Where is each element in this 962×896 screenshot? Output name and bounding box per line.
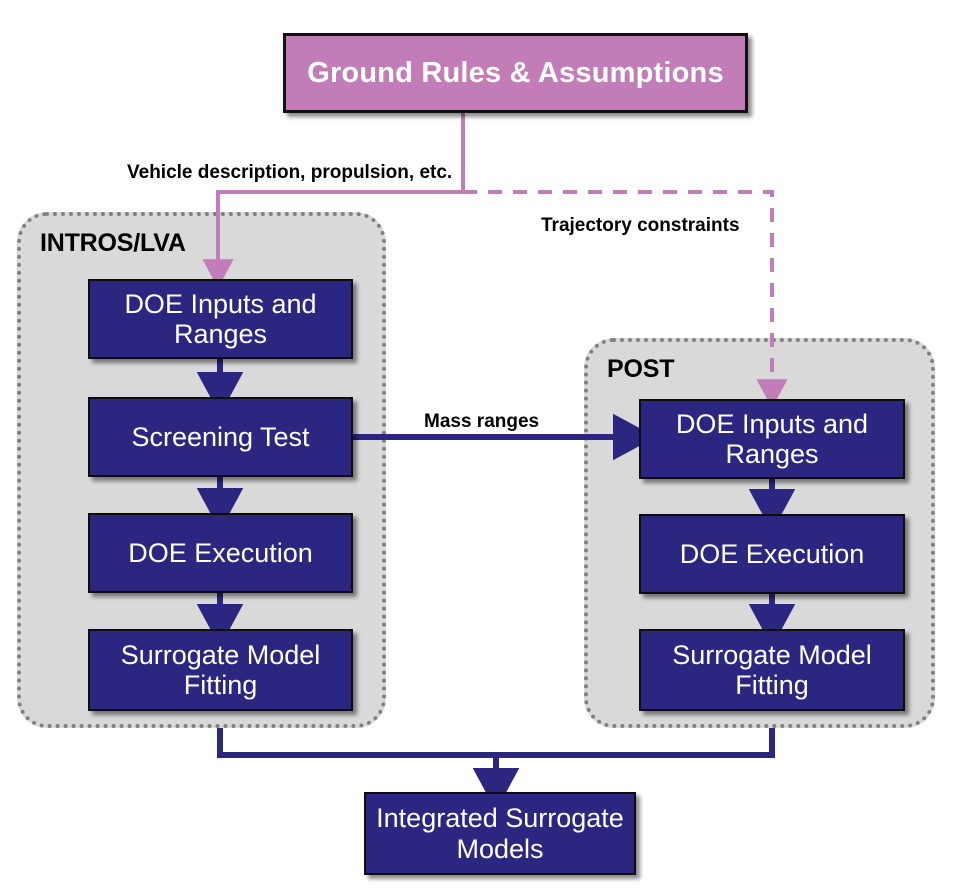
edge-label-trajectory-constraints: Trajectory constraints <box>541 215 740 237</box>
node-post-surrogate-model-fitting[interactable]: Surrogate Model Fitting <box>639 629 905 711</box>
node-ground-rules-assumptions[interactable]: Ground Rules & Assumptions <box>283 33 748 113</box>
node-post-doe-inputs-and-ranges[interactable]: DOE Inputs and Ranges <box>639 399 905 479</box>
node-intros-surrogate-model-fitting[interactable]: Surrogate Model Fitting <box>88 629 353 711</box>
edge-label-vehicle-description: Vehicle description, propulsion, etc. <box>127 162 452 184</box>
node-intros-screening-test[interactable]: Screening Test <box>88 397 353 477</box>
node-intros-doe-inputs-and-ranges[interactable]: DOE Inputs and Ranges <box>88 279 353 359</box>
process-flow-diagram: INTROS/LVA POST Ground Rules & Assumptio… <box>0 0 962 896</box>
node-integrated-surrogate-models[interactable]: Integrated Surrogate Models <box>364 792 636 875</box>
group-label-intros-lva: INTROS/LVA <box>40 229 186 258</box>
node-post-doe-execution[interactable]: DOE Execution <box>639 514 905 594</box>
node-intros-doe-execution[interactable]: DOE Execution <box>88 513 353 593</box>
edge-label-mass-ranges: Mass ranges <box>424 411 539 433</box>
group-label-post: POST <box>607 355 674 384</box>
